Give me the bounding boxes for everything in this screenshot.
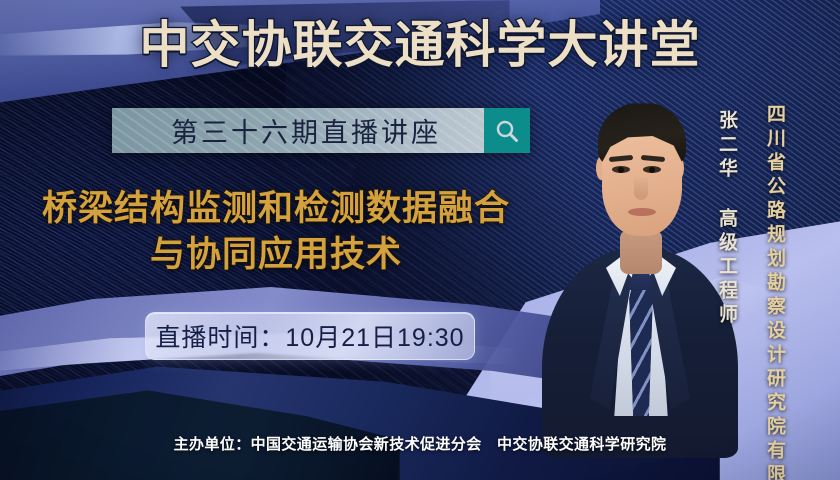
broadcast-time-badge: 直播时间：10月21日19:30: [145, 312, 475, 360]
organizers-footer: 主办单位：中国交通运输协会新技术促进分会 中交协联交通科学研究院: [0, 433, 840, 454]
portrait-mouth: [628, 208, 656, 216]
session-banner-body: 第三十六期直播讲座: [112, 108, 484, 153]
lecture-topic-line1: 桥梁结构监测和检测数据融合: [42, 189, 510, 228]
portrait-pupil-left: [618, 167, 624, 173]
portrait-nose: [634, 176, 648, 200]
portrait-pupil-right: [649, 167, 655, 173]
webinar-poster: 中交协联交通科学大讲堂 第三十六期直播讲座 桥梁结构监测和检测数据融合 与协同应…: [0, 0, 840, 480]
lecture-topic: 桥梁结构监测和检测数据融合 与协同应用技术: [0, 186, 552, 277]
session-banner: 第三十六期直播讲座: [112, 108, 530, 153]
broadcast-time-text: 直播时间：10月21日19:30: [155, 318, 464, 354]
speaker-name-and-title: 张二华 高级工程师: [713, 110, 740, 328]
search-icon: [494, 118, 520, 144]
page-title: 中交协联交通科学大讲堂: [0, 16, 840, 75]
speaker-portrait: [540, 52, 740, 452]
portrait-neck: [620, 230, 662, 274]
speaker-organization: 四川省公路规划勘察设计研究院有限公司: [761, 104, 788, 480]
lecture-topic-line2: 与协同应用技术: [0, 232, 552, 278]
session-banner-label: 第三十六期直播讲座: [155, 111, 441, 150]
search-icon-box[interactable]: [484, 108, 530, 153]
